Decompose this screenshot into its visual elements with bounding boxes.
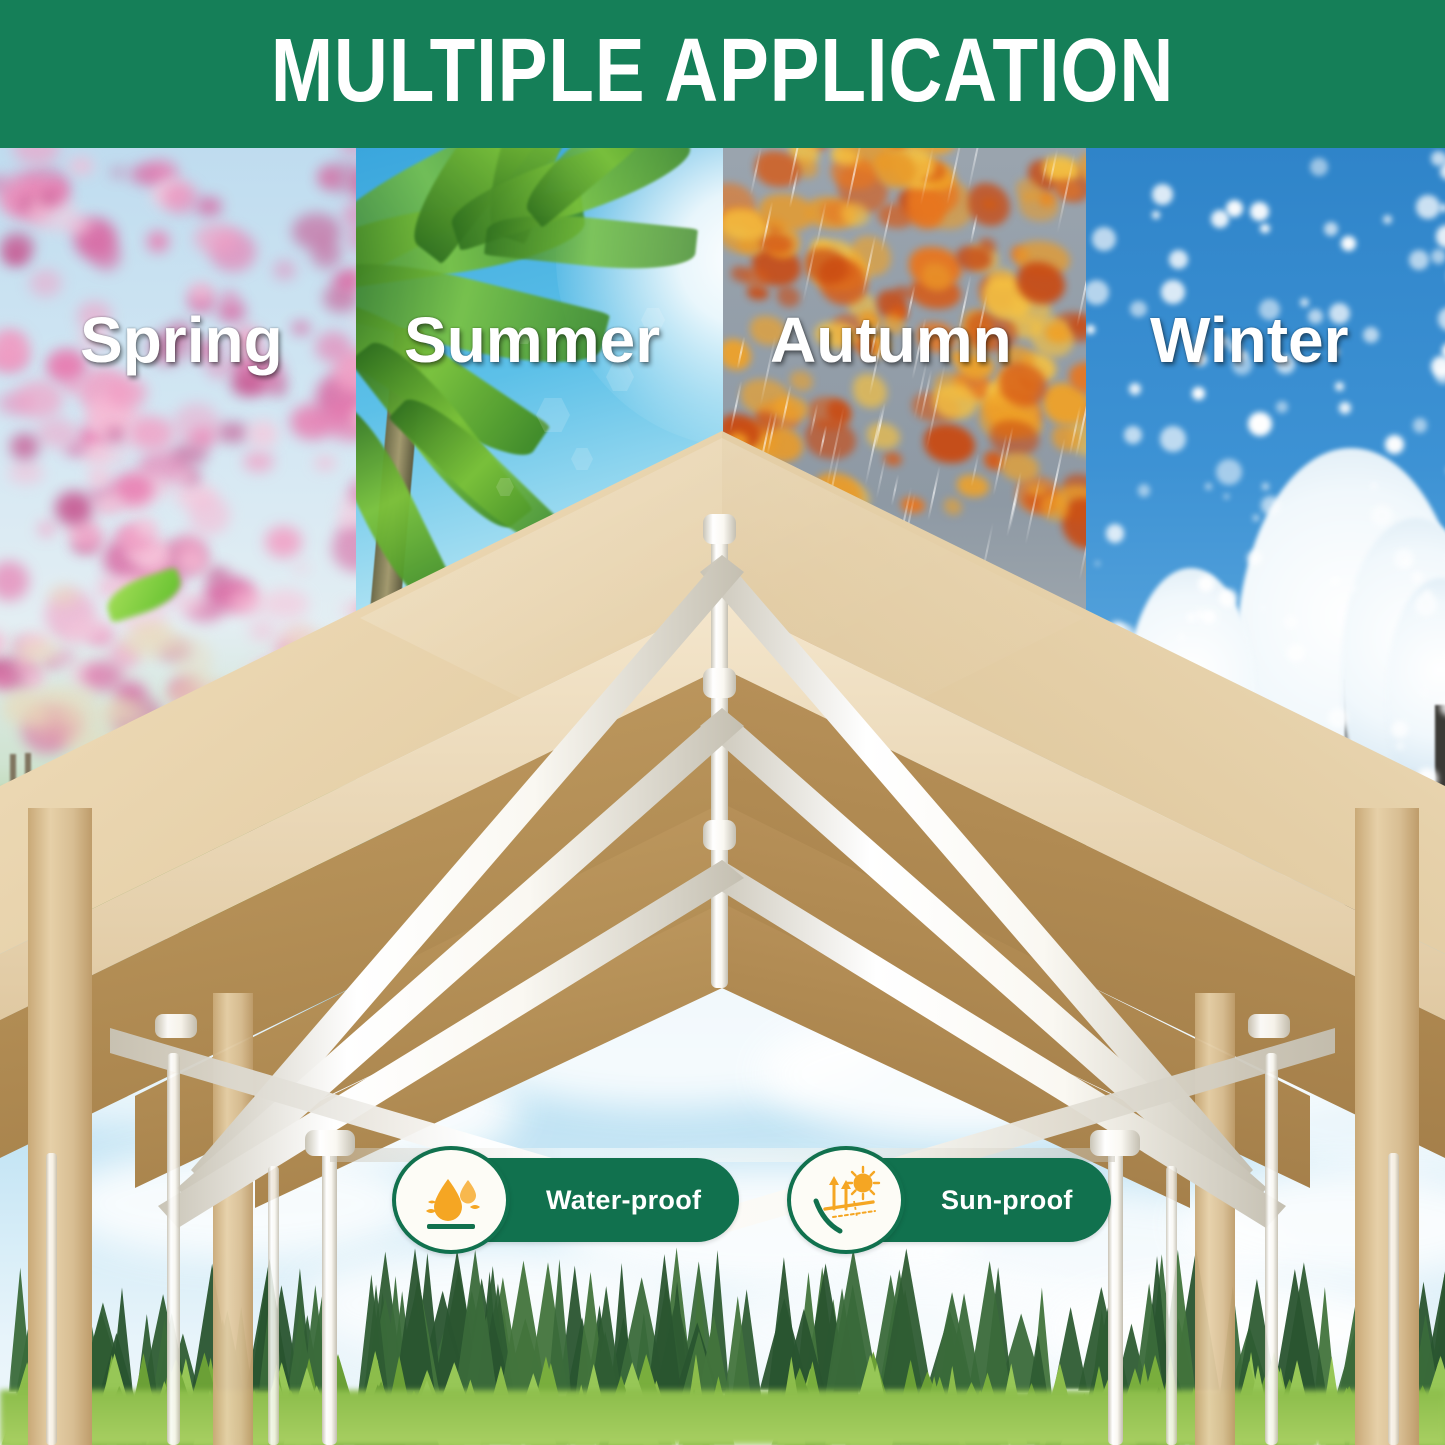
badge-disc-sun (787, 1146, 905, 1254)
feature-badges: Water-proof Sun-proof (0, 1146, 1445, 1261)
water-drop-icon (413, 1162, 489, 1238)
badge-disc-water (392, 1146, 510, 1254)
sun-uv-deflect-icon (807, 1161, 885, 1239)
header-banner: MULTIPLE APPLICATION (0, 0, 1445, 148)
product-infographic: Spring Summer Autumn Winter MULTIPLE APP… (0, 0, 1445, 1445)
page-title: MULTIPLE APPLICATION (123, 0, 1322, 148)
